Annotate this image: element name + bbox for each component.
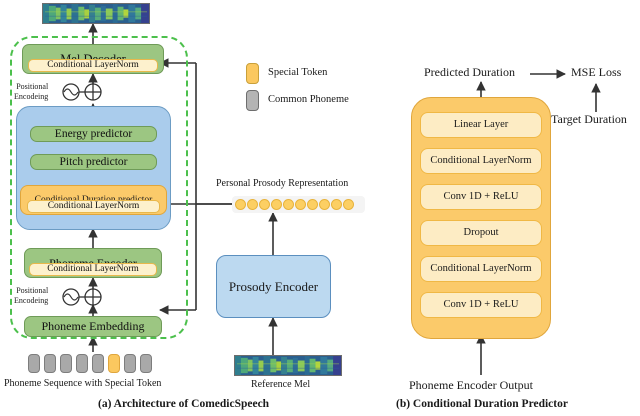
block-energy-predictor[interactable]: Energy predictor <box>30 126 157 142</box>
phoneme-token-common-3 <box>76 354 88 373</box>
pe2-line2: Encodeing <box>14 296 48 306</box>
phoneme-token-common-7 <box>140 354 152 373</box>
mse-loss-label: MSE Loss <box>571 65 621 80</box>
block-conv1d-relu-bottom[interactable]: Conv 1D + ReLU <box>420 292 542 318</box>
personal-prosody-representation-strip <box>232 196 365 213</box>
prosody-dot-0 <box>235 199 246 210</box>
block-conditional-layernorm-bottom[interactable]: Conditional LayerNorm <box>420 256 542 282</box>
legend-swatch-common-phoneme <box>246 90 259 111</box>
block-mel-decoder-layernorm[interactable]: Conditional LayerNorm <box>28 59 158 72</box>
prosody-dot-1 <box>247 199 258 210</box>
prosody-dot-8 <box>331 199 342 210</box>
prosody-dot-4 <box>283 199 294 210</box>
positional-encoding-label-1: Positional Encodeing <box>14 82 48 101</box>
legend-label-special-token: Special Token <box>268 67 327 78</box>
phoneme-token-common-1 <box>44 354 56 373</box>
block-dropout-label: Dropout <box>464 227 499 238</box>
duration-layernorm-label: Conditional LayerNorm <box>48 202 140 212</box>
prosody-dot-6 <box>307 199 318 210</box>
pe1-line2: Encodeing <box>14 92 48 102</box>
phoneme-sequence-caption: Phoneme Sequence with Special Token <box>4 378 161 389</box>
pe2-line1: Positional <box>14 286 48 296</box>
phoneme-token-common-6 <box>124 354 136 373</box>
prosody-dot-2 <box>259 199 270 210</box>
block-phoneme-embedding[interactable]: Phoneme Embedding <box>24 316 162 337</box>
output-mel-spectrogram <box>42 3 150 24</box>
block-pitch-predictor[interactable]: Pitch predictor <box>30 154 157 170</box>
predicted-duration-label: Predicted Duration <box>424 65 515 80</box>
mel-decoder-layernorm-label: Conditional LayerNorm <box>47 61 139 71</box>
prosody-dot-7 <box>319 199 330 210</box>
phoneme-token-common-2 <box>60 354 72 373</box>
reference-mel-spectrogram <box>234 355 342 376</box>
phoneme-token-common-0 <box>28 354 40 373</box>
phoneme-encoder-layernorm[interactable]: Conditional LayerNorm <box>29 263 157 276</box>
legend-swatch-special-token <box>246 63 259 84</box>
block-conv1d-relu-bottom-label: Conv 1D + ReLU <box>443 299 518 310</box>
block-conditional-layernorm-top-label: Conditional LayerNorm <box>430 155 531 166</box>
phoneme-token-common-4 <box>92 354 104 373</box>
panel-a-caption: (a) Architecture of ComedicSpeech <box>98 398 269 410</box>
target-duration-label: Target Duration <box>551 112 627 127</box>
block-linear-layer[interactable]: Linear Layer <box>420 112 542 138</box>
block-conv1d-relu-top-label: Conv 1D + ReLU <box>443 191 518 202</box>
block-linear-layer-label: Linear Layer <box>454 119 509 130</box>
phoneme-encoder-output-label: Phoneme Encoder Output <box>409 378 533 393</box>
block-conditional-layernorm-bottom-label: Conditional LayerNorm <box>430 263 531 274</box>
block-energy-predictor-label: Energy predictor <box>55 128 132 140</box>
positional-encoding-icon-1 <box>60 82 104 102</box>
phoneme-encoder-layernorm-label: Conditional LayerNorm <box>47 265 139 275</box>
prosody-dot-3 <box>271 199 282 210</box>
prosody-dot-5 <box>295 199 306 210</box>
block-prosody-encoder[interactable]: Prosody Encoder <box>216 255 331 318</box>
phoneme-token-row <box>28 354 160 374</box>
panel-b-caption: (b) Conditional Duration Predictor <box>396 398 568 410</box>
duration-predictor-layernorm[interactable]: Conditional LayerNorm <box>27 200 160 213</box>
block-phoneme-embedding-label: Phoneme Embedding <box>42 320 145 333</box>
phoneme-token-special-5 <box>108 354 120 373</box>
positional-encoding-label-2: Positional Encodeing <box>14 286 48 305</box>
block-dropout[interactable]: Dropout <box>420 220 542 246</box>
block-conv1d-relu-top[interactable]: Conv 1D + ReLU <box>420 184 542 210</box>
personal-prosody-representation-label: Personal Prosody Representation <box>216 178 348 189</box>
block-prosody-encoder-label: Prosody Encoder <box>229 280 318 294</box>
legend-label-common-phoneme: Common Phoneme <box>268 94 349 105</box>
reference-mel-caption: Reference Mel <box>251 379 310 390</box>
figure-root: Mel Decoder Conditional LayerNorm Positi… <box>0 0 640 416</box>
positional-encoding-icon-2 <box>60 287 104 307</box>
pe1-line1: Positional <box>14 82 48 92</box>
prosody-dot-9 <box>343 199 354 210</box>
block-conditional-layernorm-top[interactable]: Conditional LayerNorm <box>420 148 542 174</box>
block-pitch-predictor-label: Pitch predictor <box>59 156 127 168</box>
